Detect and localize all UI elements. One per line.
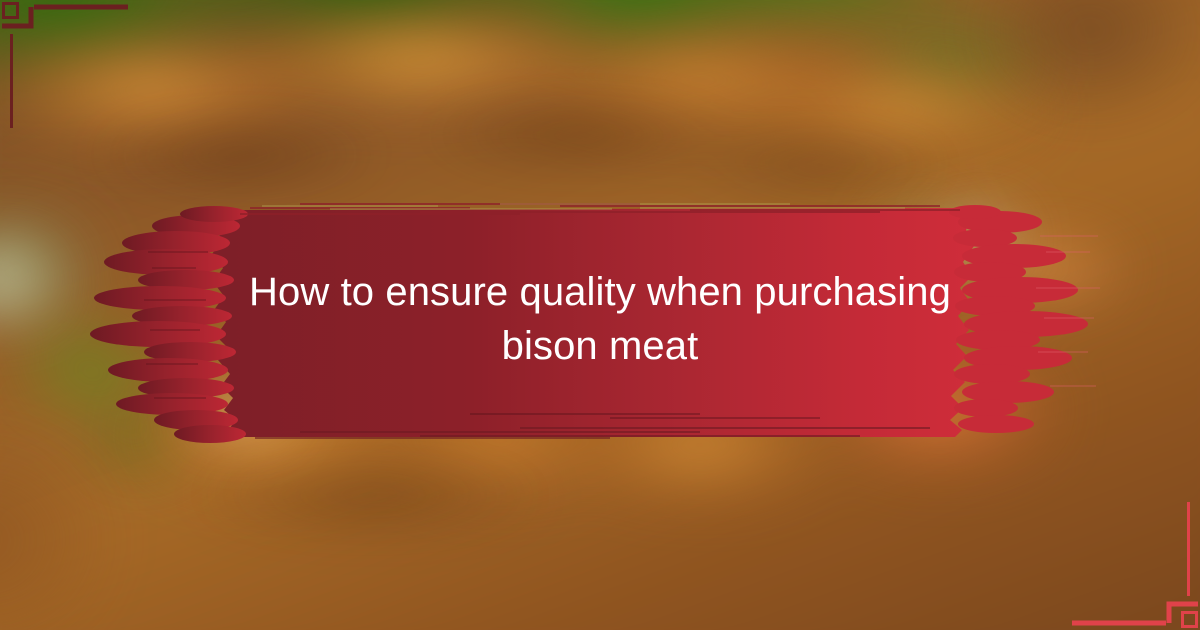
social-share-card: How to ensure quality when purchasing bi… bbox=[0, 0, 1200, 630]
title-banner: How to ensure quality when purchasing bi… bbox=[0, 0, 1200, 630]
page-title: How to ensure quality when purchasing bi… bbox=[200, 265, 1000, 373]
page-title-text: How to ensure quality when purchasing bi… bbox=[249, 270, 951, 368]
